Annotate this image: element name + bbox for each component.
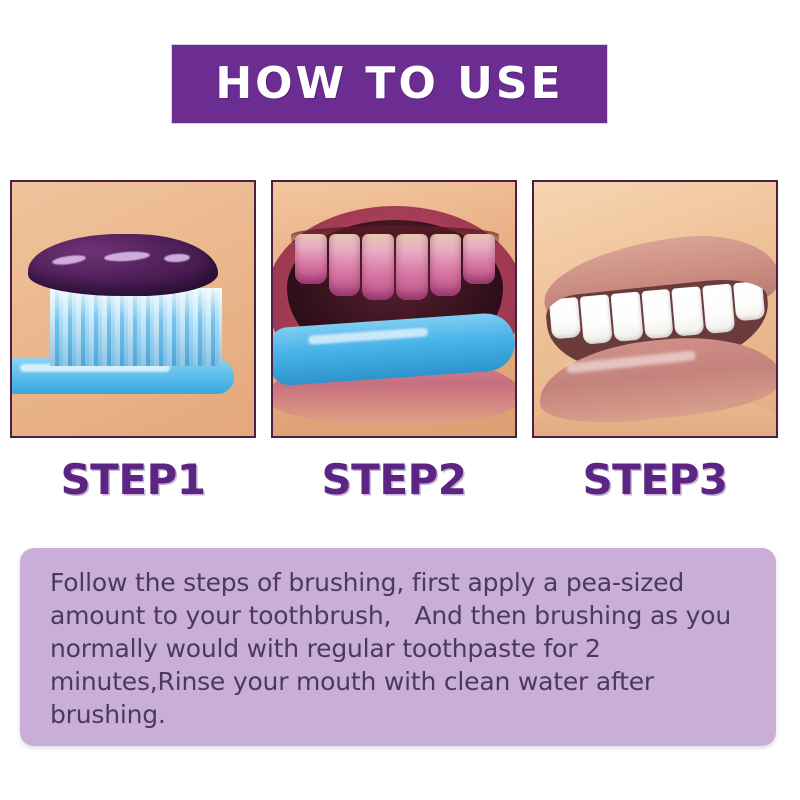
tooth [580,294,613,344]
tooth [396,234,428,300]
tooth [672,286,705,336]
tooth [329,234,361,296]
how-to-use-banner: HOW TO USE [172,45,607,123]
purple-toothpaste-icon [28,234,218,296]
tooth [733,281,765,321]
stained-teeth-icon [295,234,495,306]
step-2-label: STEP2 [271,452,517,508]
step-photos-row [10,180,778,438]
tooth [295,234,327,284]
step-3-label: STEP3 [532,452,778,508]
tooth [549,297,581,339]
tooth [430,234,462,296]
step-3-photo [532,180,778,438]
instructions-text: Follow the steps of brushing, first appl… [50,566,750,731]
tooth [641,289,674,339]
toothbrush-bristles-icon [50,288,222,366]
step-labels-row: STEP1 STEP2 STEP3 [10,452,778,508]
step-2-photo [271,180,517,438]
instructions-panel: Follow the steps of brushing, first appl… [20,548,776,746]
page-title: HOW TO USE [215,62,563,106]
step-1-label: STEP1 [10,452,256,508]
tooth [610,292,643,342]
tooth [362,234,394,300]
step-1-photo [10,180,256,438]
tooth [463,234,495,284]
tooth [702,284,735,334]
